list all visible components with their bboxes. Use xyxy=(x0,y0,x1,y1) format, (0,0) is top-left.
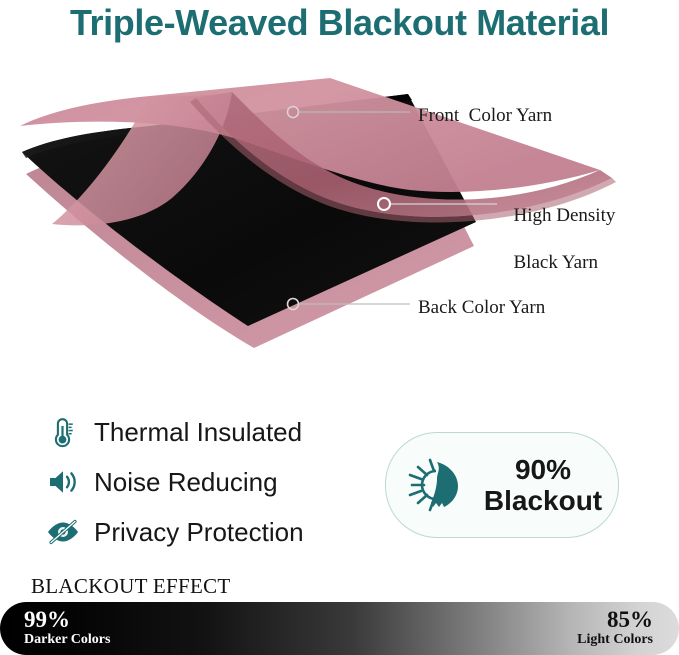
feature-label: Thermal Insulated xyxy=(94,417,302,448)
bar-right-caption: Light Colors xyxy=(577,632,653,647)
bar-left-percent: 99% xyxy=(24,607,110,632)
badge-word: Blackout xyxy=(474,485,612,516)
callout-label-back-color-yarn: Back Color Yarn xyxy=(418,296,545,320)
feature-privacy-protection: Privacy Protection xyxy=(44,510,374,554)
blackout-effect-gradient-bar: 99% Darker Colors 85% Light Colors xyxy=(0,602,679,655)
bar-left-caption: Darker Colors xyxy=(24,632,110,647)
bar-left-value: 99% Darker Colors xyxy=(24,607,110,648)
bar-right-value: 85% Light Colors xyxy=(577,607,653,648)
badge-text: 90% Blackout xyxy=(474,454,612,517)
callout-label-front-color-yarn: Front Color Yarn xyxy=(418,104,552,128)
feature-label: Privacy Protection xyxy=(94,517,304,548)
bar-right-percent: 85% xyxy=(577,607,653,632)
blackout-effect-heading: BLACKOUT EFFECT xyxy=(31,574,231,599)
callout-label-high-density-black-yarn: High Density Black Yarn xyxy=(504,180,615,275)
speaker-sound-icon xyxy=(44,464,82,500)
blackout-percentage-badge: 90% Blackout xyxy=(385,432,619,538)
feature-list: Thermal Insulated Noise Reducing Privacy… xyxy=(44,410,374,560)
feature-label: Noise Reducing xyxy=(94,467,278,498)
feature-noise-reducing: Noise Reducing xyxy=(44,460,374,504)
badge-percent: 90% xyxy=(474,454,612,485)
eye-slash-icon xyxy=(44,514,82,550)
feature-thermal-insulated: Thermal Insulated xyxy=(44,410,374,454)
callout-label-line-1: High Density xyxy=(514,205,616,226)
sun-blocked-by-curtain-icon xyxy=(400,448,474,522)
callout-label-line-2: Black Yarn xyxy=(514,252,598,273)
thermometer-icon xyxy=(44,414,82,450)
page-title: Triple-Weaved Blackout Material xyxy=(0,2,679,44)
